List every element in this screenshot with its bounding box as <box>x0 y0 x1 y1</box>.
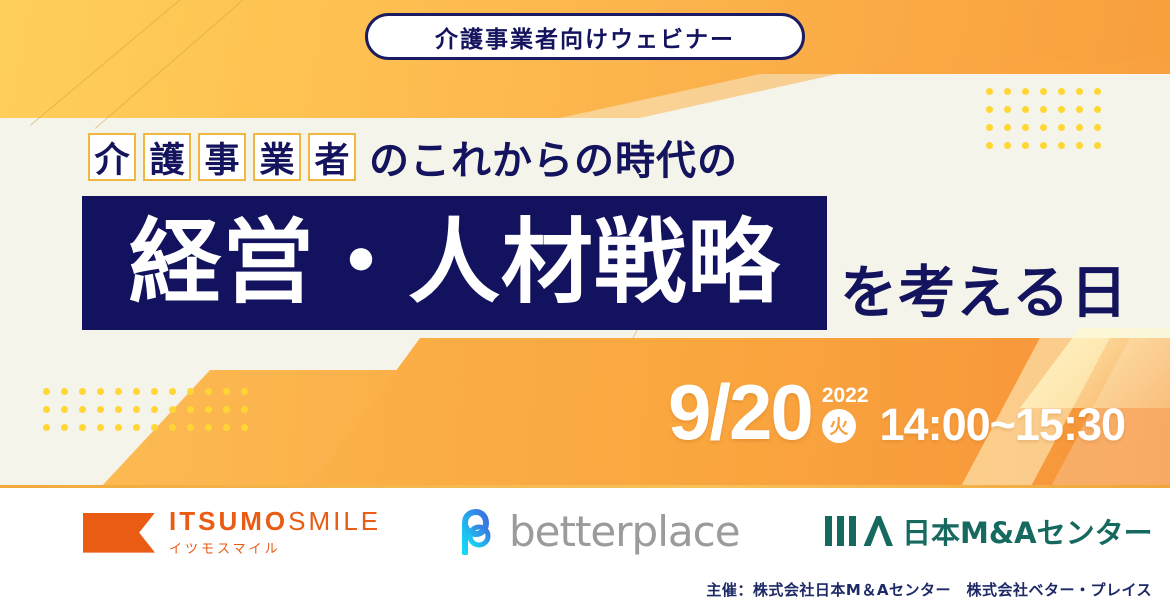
dot <box>1022 142 1029 149</box>
dot <box>43 406 50 413</box>
webinar-badge: 介護事業者向けウェビナー <box>365 13 805 60</box>
boxed-char: 事 <box>198 133 246 181</box>
webinar-banner: 介護事業者向けウェビナー 介 護 事 業 者 のこれからの時代の 経営・人材戦略… <box>0 0 1170 612</box>
logo-betterplace: betterplace <box>455 507 740 556</box>
dot <box>43 424 50 431</box>
dot <box>223 388 230 395</box>
dot <box>241 406 248 413</box>
dot <box>205 406 212 413</box>
dot <box>1022 88 1029 95</box>
dot <box>1040 124 1047 131</box>
dot <box>151 406 158 413</box>
dot <box>1076 88 1083 95</box>
dot <box>187 424 194 431</box>
dot <box>79 406 86 413</box>
event-date-meta: 2022 火 <box>822 385 869 443</box>
dot <box>1004 142 1011 149</box>
dot <box>205 424 212 431</box>
dot <box>187 388 194 395</box>
headline-line-2-tail: を考える日 <box>840 247 1128 329</box>
dot <box>1022 106 1029 113</box>
boxed-char: 業 <box>253 133 301 181</box>
dot <box>223 424 230 431</box>
dot <box>1076 106 1083 113</box>
dot <box>986 106 993 113</box>
event-year: 2022 <box>822 385 869 406</box>
dot <box>115 424 122 431</box>
nihon-ma-lambda-icon <box>861 516 893 546</box>
dot <box>187 406 194 413</box>
dot <box>241 388 248 395</box>
dot <box>133 388 140 395</box>
dot <box>1076 142 1083 149</box>
dot <box>79 388 86 395</box>
dot <box>1058 142 1065 149</box>
event-time: 14:00~15:30 <box>880 402 1125 447</box>
dot <box>1004 88 1011 95</box>
dot <box>1058 88 1065 95</box>
boxed-char: 介 <box>88 133 136 181</box>
dot <box>1094 124 1101 131</box>
dot <box>61 406 68 413</box>
dot <box>205 388 212 395</box>
dot-grid-left <box>43 388 248 431</box>
dot <box>241 424 248 431</box>
boxed-char: 者 <box>308 133 356 181</box>
itsumo-name-en: ITSUMOSMILE <box>169 508 381 535</box>
host-credits: 主催：株式会社日本M＆Aセンター 株式会社ベター・プレイス <box>706 579 1152 600</box>
footer: ITSUMOSMILE イツモスマイル betterplace <box>0 488 1170 612</box>
dot <box>1040 88 1047 95</box>
itsumo-bookmark-icon <box>83 513 155 553</box>
webinar-badge-label: 介護事業者向けウェビナー <box>435 20 735 54</box>
dot <box>79 424 86 431</box>
betterplace-wordmark: betterplace <box>509 507 740 556</box>
nihon-ma-bars-icon <box>825 516 902 546</box>
bar <box>825 516 832 546</box>
dot <box>1004 124 1011 131</box>
boxed-char: 護 <box>143 133 191 181</box>
bar <box>849 516 856 546</box>
dot <box>97 424 104 431</box>
dot <box>1094 106 1101 113</box>
dot <box>97 406 104 413</box>
dot <box>169 388 176 395</box>
dot <box>1094 142 1101 149</box>
event-weekday-badge: 火 <box>822 409 856 443</box>
dot <box>1094 88 1101 95</box>
dot <box>115 388 122 395</box>
dot <box>1040 106 1047 113</box>
event-weekday-wrap: 火 <box>822 409 856 443</box>
dot <box>97 388 104 395</box>
dot <box>151 424 158 431</box>
itsumo-name-bold: ITSUMO <box>169 506 288 536</box>
event-date: 9/20 <box>668 378 812 447</box>
dot <box>1058 106 1065 113</box>
headline-line-1: 介 護 事 業 者 のこれからの時代の <box>88 128 738 186</box>
logo-itsumo-smile: ITSUMOSMILE イツモスマイル <box>83 508 381 557</box>
dot <box>1004 106 1011 113</box>
dot <box>1040 142 1047 149</box>
headline-line-1-tail: のこれからの時代の <box>369 128 738 186</box>
dot <box>133 424 140 431</box>
dot <box>151 388 158 395</box>
headline-emphasis-text: 経営・人材戦略 <box>129 217 780 309</box>
dot <box>115 406 122 413</box>
bar <box>837 516 844 546</box>
dot <box>986 142 993 149</box>
dot <box>1058 124 1065 131</box>
dot <box>61 424 68 431</box>
dot <box>133 406 140 413</box>
dot <box>169 406 176 413</box>
dot-grid-top-right <box>986 88 1101 149</box>
headline-emphasis-block: 経営・人材戦略 <box>82 196 827 330</box>
dot <box>1022 124 1029 131</box>
dot <box>1076 124 1083 131</box>
dot <box>986 88 993 95</box>
betterplace-bp-icon <box>455 509 501 555</box>
dot <box>61 388 68 395</box>
dot <box>43 388 50 395</box>
dot <box>986 124 993 131</box>
itsumo-name-kana: イツモスマイル <box>169 538 381 557</box>
event-date-row: 9/20 2022 火 14:00~15:30 <box>668 378 1125 447</box>
dot <box>223 406 230 413</box>
itsumo-wordmark: ITSUMOSMILE イツモスマイル <box>169 508 381 557</box>
nihon-ma-wordmark: 日本M&Aセンター <box>902 510 1153 552</box>
logo-nihon-ma-center: 日本M&Aセンター <box>825 510 1153 552</box>
dot <box>169 424 176 431</box>
itsumo-name-light: SMILE <box>288 506 381 536</box>
